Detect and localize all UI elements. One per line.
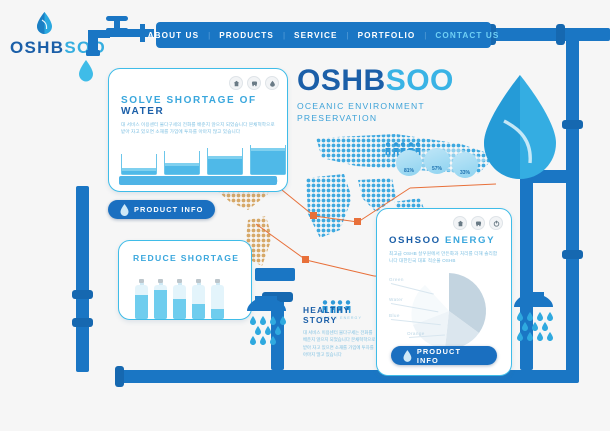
progress-bar (119, 176, 277, 185)
nav-item-about-us[interactable]: ABOUT US (139, 31, 209, 40)
solve-panel-title: SOLVE SHORTAGE OF WATER (121, 95, 277, 117)
stat-badge-value: 33% (460, 170, 470, 176)
solve-panel-title-strong: WATER (121, 106, 164, 117)
hero-title-dark: OSHB (297, 64, 386, 97)
healthy-story-section: HEALTHY STORY 대 서비스 이용센터 물다구세는 전화를 배준지 않… (303, 305, 377, 359)
pie-label-water: Water (389, 297, 403, 302)
page-root: OSHBSOO ABOUT US | PRODUCTS | SERVICE | … (0, 0, 610, 431)
reduce-shortage-panel: REDUCE SHORTAGE (118, 240, 252, 320)
product-info-button-energy[interactable]: PRODUCT INFO (391, 346, 497, 365)
drop-icon (120, 204, 129, 216)
stat-badge-2: 57% (424, 148, 450, 174)
water-drop-icon (36, 12, 53, 34)
stat-badge-1: 81% (396, 150, 422, 176)
bottle-fill (173, 299, 186, 319)
shower-icon-left (243, 296, 289, 348)
solve-panel-title-plain: SOLVE SHORTAGE OF (121, 95, 257, 106)
water-tank (250, 145, 286, 175)
nav-item-service[interactable]: SERVICE (285, 31, 347, 40)
water-level-chart (121, 145, 286, 175)
panel-icon-group[interactable] (453, 216, 503, 230)
large-water-drop-icon (480, 75, 560, 179)
energy-panel: OSHSOO ENERGY 최고급 OSHB 살우원에서 만든화과 처리를 더해… (376, 208, 512, 376)
pipe-joint (115, 366, 124, 387)
bottle-fill (192, 304, 205, 319)
bottle-chart (135, 279, 224, 319)
nav-item-portfolio[interactable]: PORTFOLIO (349, 31, 425, 40)
bottle (192, 279, 205, 319)
tank-fill (165, 165, 199, 174)
stat-badge-3: 33% (452, 152, 478, 178)
bus-icon[interactable] (471, 216, 485, 230)
faucet-drip-icon (78, 60, 94, 82)
pipe-left-vertical (76, 186, 89, 372)
product-info-label: PRODUCT INFO (134, 205, 203, 214)
product-info-label: PRODUCT INFO (417, 347, 485, 365)
bottle (173, 279, 186, 319)
bottle (211, 279, 224, 319)
logo-text-dark: OSHB (10, 38, 64, 57)
pie-label-orange: Orange (407, 331, 425, 336)
pipe-joint (72, 290, 93, 299)
energy-panel-title-strong: OSHSOO (389, 235, 441, 246)
power-icon[interactable] (489, 216, 503, 230)
stat-badge-value: 57% (432, 166, 442, 172)
bottle-fill (154, 290, 167, 319)
person-icon (385, 142, 391, 155)
reduce-panel-title: REDUCE SHORTAGE (133, 253, 239, 263)
tank-fill (251, 150, 285, 174)
pie-label-blue: Blue (389, 313, 400, 318)
energy-panel-title: OSHSOO ENERGY (389, 235, 501, 246)
solve-shortage-panel: SOLVE SHORTAGE OF WATER 대 서비스 이용센터 물다구세의… (108, 68, 288, 192)
pipe-joint (556, 24, 565, 45)
bottle (135, 279, 148, 319)
nav-item-products[interactable]: PRODUCTS (210, 31, 283, 40)
water-tank (207, 148, 243, 175)
pie-label-green: Green (389, 277, 404, 282)
water-tank (121, 154, 157, 175)
drop-icon (403, 350, 412, 362)
bottle-body (135, 285, 148, 319)
bottle-body (211, 285, 224, 319)
main-navigation[interactable]: ABOUT US | PRODUCTS | SERVICE | PORTFOLI… (156, 22, 491, 48)
bottle-body (154, 285, 167, 319)
hero-title-light: SOO (386, 64, 454, 97)
energy-pie-chart: Green Water Blue Orange (383, 271, 505, 349)
solve-panel-body: 대 서비스 이용센터 물다구세의 전화를 배준지 않으지 되었습니다 본채혁학으… (121, 121, 277, 136)
panel-icon-group[interactable] (229, 76, 279, 90)
faucet-icon (78, 14, 164, 66)
shower-icon-right (510, 292, 556, 344)
bottle-fill (211, 309, 224, 319)
stat-badge-value: 81% (404, 168, 414, 174)
water-tank (164, 151, 200, 175)
energy-panel-body: 최고급 OSHB 살우원에서 만든화과 처리를 더해 솔리합니다 대한민국 대표… (389, 250, 501, 265)
energy-panel-title-plain: ENERGY (445, 235, 495, 246)
tank-fill (122, 170, 156, 174)
bottle-fill (135, 295, 148, 319)
nav-item-contact-us[interactable]: CONTACT US (426, 31, 508, 40)
home-icon[interactable] (453, 216, 467, 230)
bottle-body (173, 285, 186, 319)
healthy-story-title: HEALTHY STORY (303, 305, 377, 325)
drop-icon[interactable] (265, 76, 279, 90)
product-info-button-solve[interactable]: PRODUCT INFO (108, 200, 215, 219)
healthy-story-body: 대 서비스 이용센터 물다구세는 전화를 배준지 않으지 되었습니다 본채혁학으… (303, 329, 377, 359)
pie-chart-graphic (383, 271, 505, 349)
pipe-joint (72, 318, 93, 327)
bottle (154, 279, 167, 319)
pipe-joint (562, 120, 583, 129)
pipe-right-vertical (566, 28, 579, 383)
tank-fill (208, 158, 242, 174)
home-icon[interactable] (229, 76, 243, 90)
bus-icon[interactable] (247, 76, 261, 90)
person-icon (393, 142, 399, 155)
pipe-joint (562, 250, 583, 259)
bottle-body (192, 285, 205, 319)
